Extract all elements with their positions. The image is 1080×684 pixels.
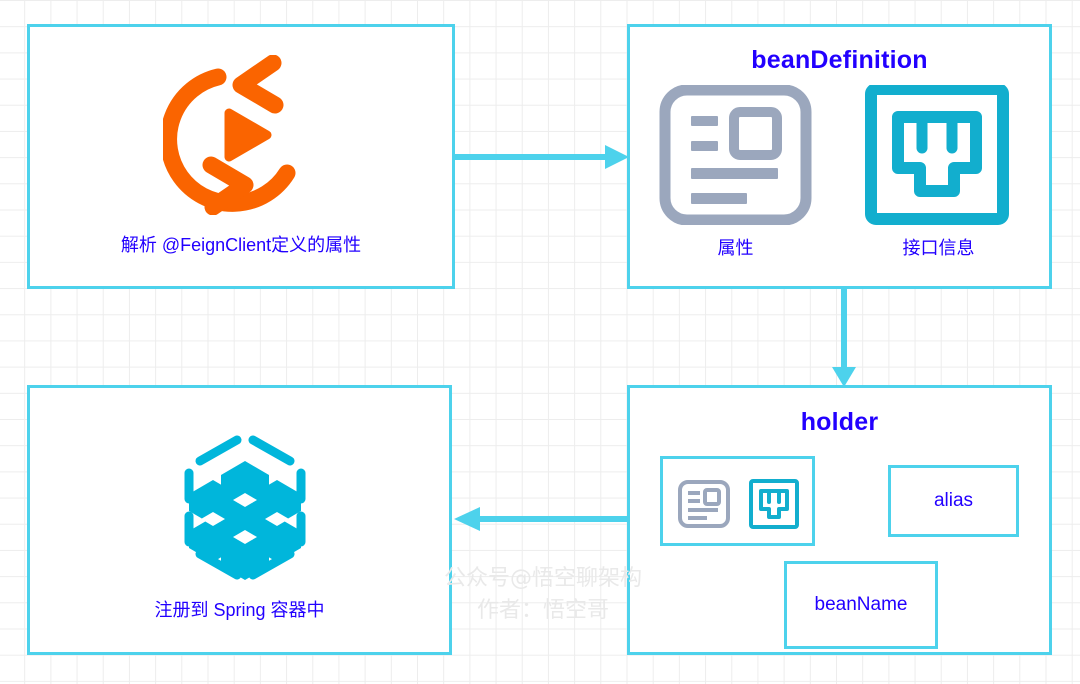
bean-definition-item-0-label: 属性 [658, 234, 813, 260]
arrow-parse-to-beandefinition [455, 140, 631, 180]
node-bean-definition[interactable]: beanDefinition 属性 接口信息 [627, 24, 1052, 289]
holder-beandefinition-box[interactable] [660, 456, 815, 546]
diagram-canvas: 解析 @FeignClient定义的属性 beanDefinition 属性 [0, 0, 1080, 684]
node-register-spring-caption: 注册到 Spring 容器中 [30, 596, 449, 622]
bean-definition-title: beanDefinition [630, 46, 1049, 75]
holder-alias-box[interactable]: alias [888, 465, 1019, 537]
arrow-holder-to-register [452, 500, 630, 540]
node-parse-feignclient-caption: 解析 @FeignClient定义的属性 [30, 231, 452, 257]
watermark-line-1: 公众号@悟空聊架构 [398, 560, 688, 592]
watermark-line-2: 作者：悟空哥 [398, 592, 688, 624]
attributes-card-icon-small [677, 479, 731, 529]
refresh-play-icon [163, 55, 323, 215]
ethernet-port-icon [861, 85, 1016, 225]
bean-definition-item-1-label: 接口信息 [861, 234, 1016, 260]
node-parse-feignclient[interactable]: 解析 @FeignClient定义的属性 [27, 24, 455, 289]
node-holder[interactable]: holder [627, 385, 1052, 655]
holder-title: holder [630, 408, 1049, 437]
holder-beanname-label: beanName [815, 594, 908, 616]
ethernet-port-icon-small [747, 479, 801, 529]
attributes-card-icon [658, 85, 813, 225]
spring-container-cube-icon [165, 430, 325, 585]
holder-alias-label: alias [934, 490, 973, 512]
arrow-beandefinition-to-holder [825, 289, 865, 389]
node-register-spring[interactable]: 注册到 Spring 容器中 [27, 385, 452, 655]
holder-beanname-box[interactable]: beanName [784, 561, 938, 649]
